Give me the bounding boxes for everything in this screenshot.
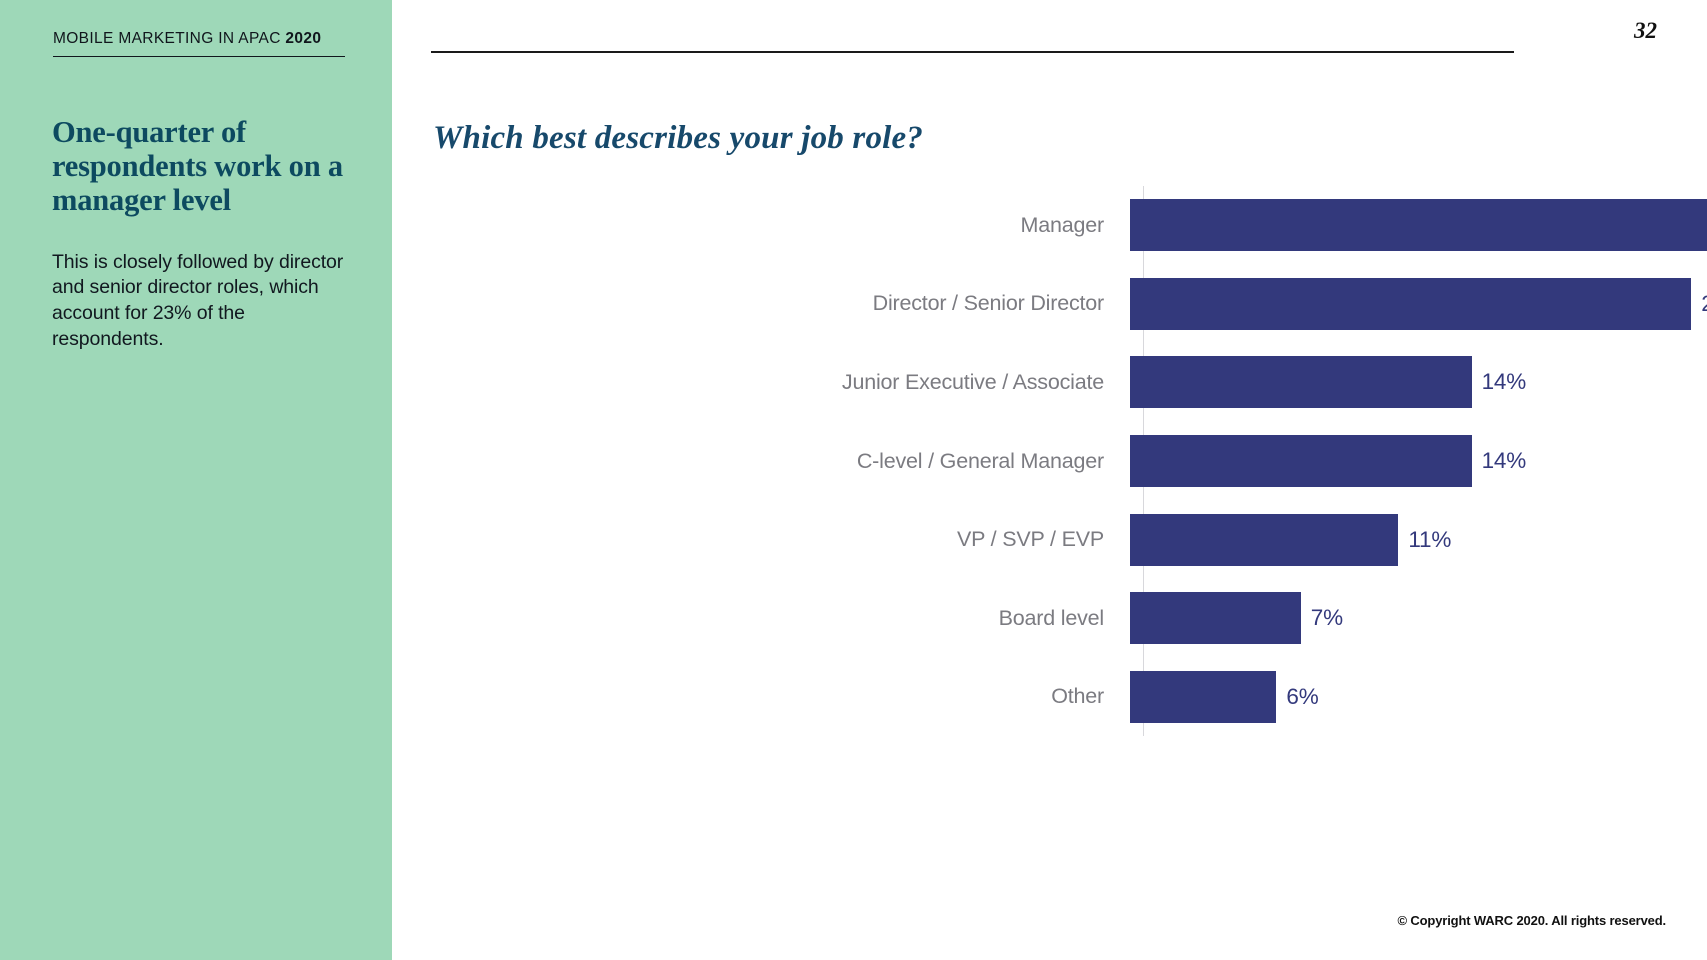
bar-chart: Manager25%Director / Senior Director23%J… — [392, 186, 1707, 736]
bar-row: C-level / General Manager14% — [392, 422, 1707, 501]
sidebar: MOBILE MARKETING IN APAC 2020 One-quarte… — [0, 0, 392, 960]
sidebar-title: One-quarter of respondents work on a man… — [52, 116, 362, 217]
bar-value-label: 7% — [1311, 605, 1343, 631]
sidebar-header-prefix: MOBILE MARKETING IN APAC — [53, 30, 281, 47]
header-divider — [431, 51, 1514, 53]
bar-row: Other6% — [392, 657, 1707, 736]
bar-row: Manager25% — [392, 186, 1707, 265]
bar[interactable] — [1130, 356, 1472, 408]
bar[interactable] — [1130, 435, 1472, 487]
bar-track: 11% — [1130, 500, 1707, 579]
bar-rows: Manager25%Director / Senior Director23%J… — [392, 186, 1707, 736]
slide: MOBILE MARKETING IN APAC 2020 One-quarte… — [0, 0, 1707, 960]
bar[interactable] — [1130, 278, 1691, 330]
bar-category-label: Junior Executive / Associate — [392, 370, 1130, 395]
bar[interactable] — [1130, 671, 1276, 723]
sidebar-header-year: 2020 — [285, 30, 321, 47]
chart-title: Which best describes your job role? — [433, 120, 923, 157]
bar-category-label: Other — [392, 684, 1130, 709]
bar-category-label: Director / Senior Director — [392, 291, 1130, 316]
bar-track: 23% — [1130, 265, 1707, 344]
bar[interactable] — [1130, 592, 1301, 644]
sidebar-header-divider — [53, 56, 345, 57]
bar-category-label: Board level — [392, 606, 1130, 631]
bar-category-label: VP / SVP / EVP — [392, 527, 1130, 552]
sidebar-header-text: MOBILE MARKETING IN APAC 2020 — [53, 30, 345, 49]
bar-row: Junior Executive / Associate14% — [392, 343, 1707, 422]
bar[interactable] — [1130, 514, 1398, 566]
bar-value-label: 23% — [1701, 291, 1707, 317]
bar-value-label: 11% — [1408, 527, 1451, 553]
copyright-notice: © Copyright WARC 2020. All rights reserv… — [1398, 913, 1667, 928]
bar-value-label: 14% — [1482, 369, 1526, 395]
bar-category-label: C-level / General Manager — [392, 449, 1130, 474]
bar[interactable] — [1130, 199, 1707, 251]
main-content: 32 Which best describes your job role? M… — [392, 0, 1707, 960]
bar-row: VP / SVP / EVP11% — [392, 500, 1707, 579]
bar-row: Director / Senior Director23% — [392, 265, 1707, 344]
bar-track: 14% — [1130, 422, 1707, 501]
bar-row: Board level7% — [392, 579, 1707, 658]
sidebar-header: MOBILE MARKETING IN APAC 2020 — [53, 30, 345, 57]
bar-track: 14% — [1130, 343, 1707, 422]
sidebar-body-text: This is closely followed by director and… — [52, 250, 352, 354]
bar-value-label: 6% — [1286, 684, 1318, 710]
bar-track: 6% — [1130, 657, 1707, 736]
bar-value-label: 14% — [1482, 448, 1526, 474]
bar-track: 25% — [1130, 186, 1707, 265]
bar-category-label: Manager — [392, 213, 1130, 238]
bar-track: 7% — [1130, 579, 1707, 658]
page-number: 32 — [1634, 18, 1657, 44]
